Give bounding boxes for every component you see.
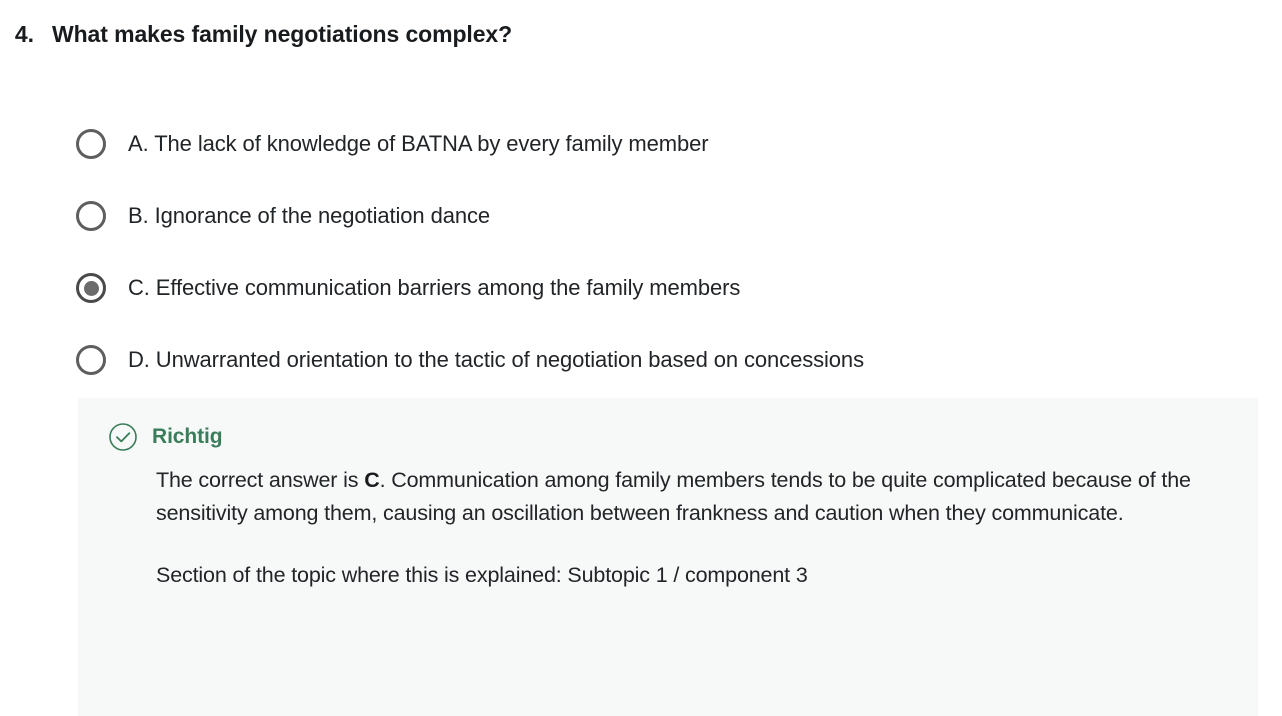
option-b[interactable]: B. Ignorance of the negotiation dance: [0, 180, 1282, 252]
radio-button-c[interactable]: [76, 273, 106, 303]
feedback-explanation: The correct answer is C. Communication a…: [156, 464, 1228, 529]
radio-dot-c: [84, 281, 99, 296]
radio-button-b[interactable]: [76, 201, 106, 231]
option-c-label: C. Effective communication barriers amon…: [128, 274, 740, 303]
question-title: What makes family negotiations complex?: [52, 19, 512, 50]
option-c[interactable]: C. Effective communication barriers amon…: [0, 252, 1282, 324]
feedback-panel: Richtig The correct answer is C. Communi…: [78, 398, 1258, 716]
option-a[interactable]: A. The lack of knowledge of BATNA by eve…: [0, 108, 1282, 180]
feedback-body: The correct answer is C. Communication a…: [156, 464, 1228, 592]
answer-options-list: A. The lack of knowledge of BATNA by eve…: [0, 108, 1282, 396]
question-header: 4. What makes family negotiations comple…: [0, 0, 1282, 50]
radio-button-a[interactable]: [76, 129, 106, 159]
radio-button-d[interactable]: [76, 345, 106, 375]
option-a-label: A. The lack of knowledge of BATNA by eve…: [128, 130, 709, 159]
radio-dot-b: [84, 209, 99, 224]
option-d-label: D. Unwarranted orientation to the tactic…: [128, 346, 864, 375]
circle-check-icon: [108, 422, 138, 452]
explanation-correct-letter: C: [364, 468, 379, 492]
feedback-reference: Section of the topic where this is expla…: [156, 559, 1228, 592]
option-d[interactable]: D. Unwarranted orientation to the tactic…: [0, 324, 1282, 396]
explanation-prefix: The correct answer is: [156, 468, 364, 492]
feedback-header: Richtig: [108, 420, 1228, 454]
radio-dot-d: [84, 353, 99, 368]
radio-dot-a: [84, 137, 99, 152]
quiz-question-card: 4. What makes family negotiations comple…: [0, 0, 1282, 716]
feedback-status-label: Richtig: [152, 425, 222, 449]
question-number: 4.: [0, 19, 52, 50]
option-b-label: B. Ignorance of the negotiation dance: [128, 202, 490, 231]
